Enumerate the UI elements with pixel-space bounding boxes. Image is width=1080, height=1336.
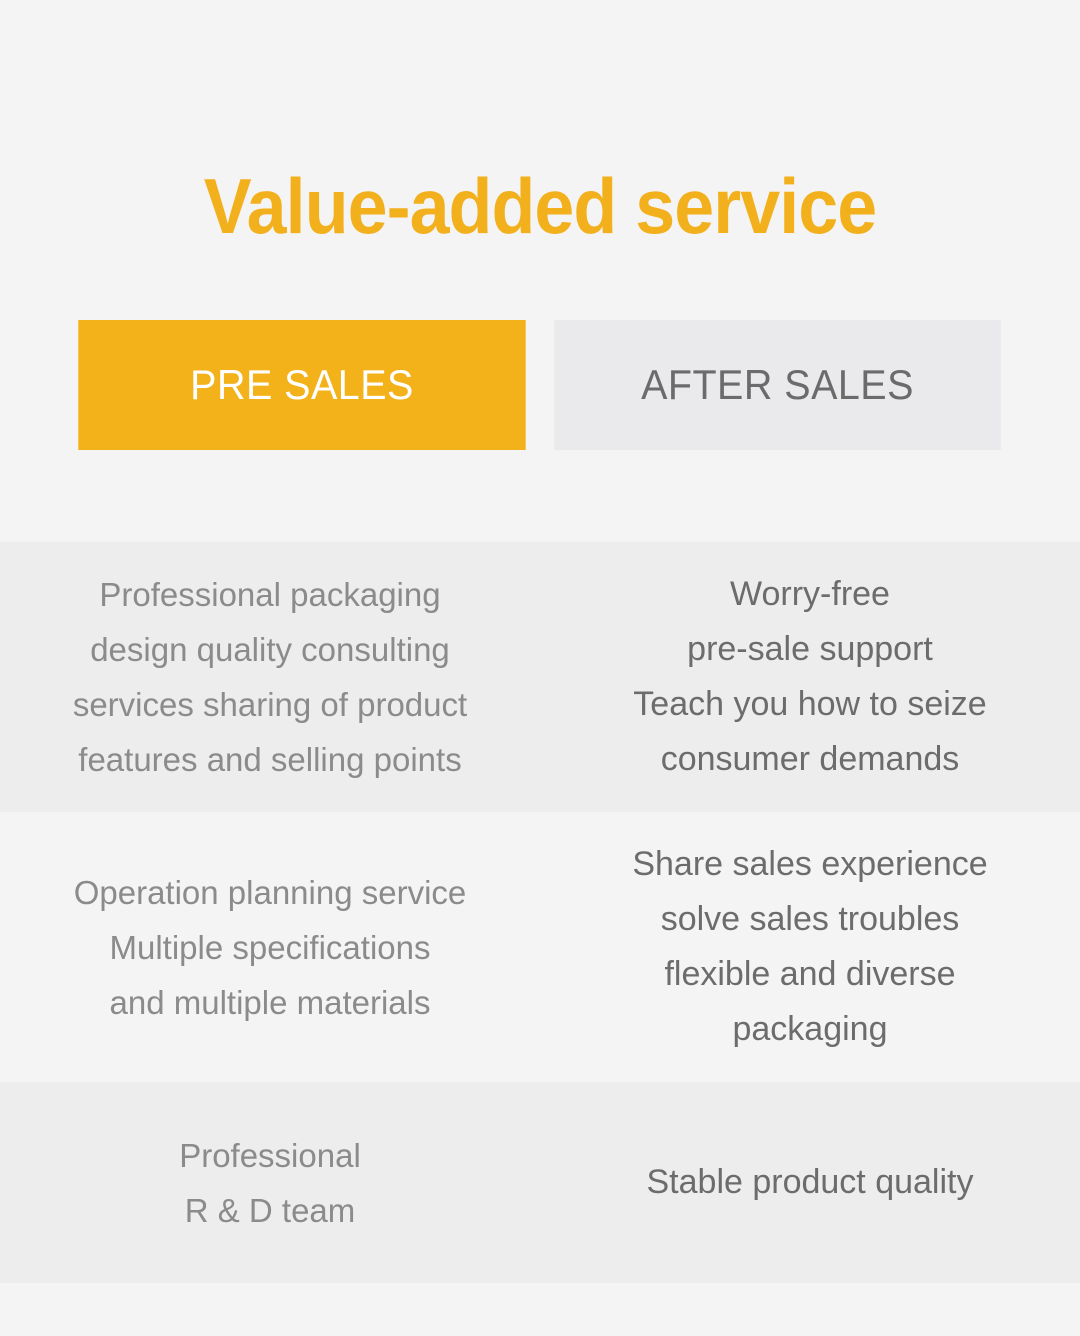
- cell-after-sales-1-text: Worry-free pre-sale support Teach you ho…: [633, 567, 986, 787]
- table-row: Professional R & D team Stable product q…: [0, 1082, 1080, 1283]
- cell-after-sales-1: Worry-free pre-sale support Teach you ho…: [540, 542, 1080, 812]
- cell-after-sales-3: Stable product quality: [540, 1082, 1080, 1283]
- tab-bar: PRE SALES AFTER SALES: [64, 320, 1015, 450]
- tab-after-sales[interactable]: AFTER SALES: [554, 320, 1001, 450]
- cell-after-sales-2-text: Share sales experience solve sales troub…: [632, 837, 987, 1057]
- table-row: Operation planning service Multiple spec…: [0, 812, 1080, 1082]
- cell-pre-sales-3: Professional R & D team: [0, 1082, 540, 1283]
- page-title: Value-added service: [43, 158, 1037, 254]
- cell-pre-sales-1: Professional packaging design quality co…: [0, 542, 540, 812]
- service-table: Professional packaging design quality co…: [0, 542, 1080, 1283]
- tab-pre-sales[interactable]: PRE SALES: [78, 320, 525, 450]
- cell-pre-sales-2: Operation planning service Multiple spec…: [0, 812, 540, 1082]
- tab-pre-sales-label: PRE SALES: [190, 364, 414, 406]
- cell-pre-sales-3-text: Professional R & D team: [179, 1128, 361, 1238]
- cell-after-sales-2: Share sales experience solve sales troub…: [540, 812, 1080, 1082]
- table-row: Professional packaging design quality co…: [0, 542, 1080, 812]
- cell-pre-sales-2-text: Operation planning service Multiple spec…: [74, 865, 467, 1030]
- tab-after-sales-label: AFTER SALES: [641, 364, 914, 406]
- cell-pre-sales-1-text: Professional packaging design quality co…: [73, 567, 467, 787]
- cell-after-sales-3-text: Stable product quality: [647, 1155, 974, 1210]
